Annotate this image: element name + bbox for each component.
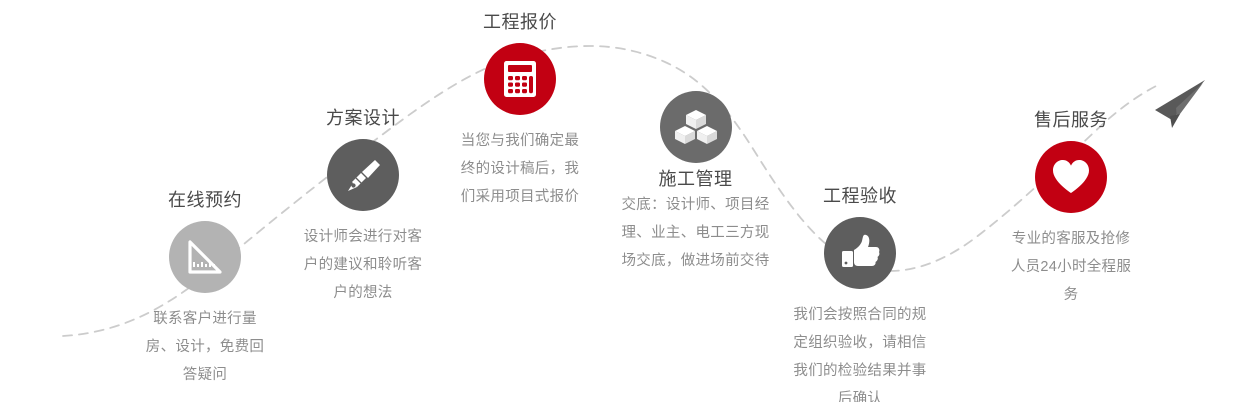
step-3-icon-circle[interactable]: [484, 43, 556, 115]
step-5-icon-circle[interactable]: [824, 217, 896, 289]
step-1-desc-line: 房、设计，免费回: [125, 333, 285, 361]
step-6-title: 售后服务: [991, 108, 1151, 132]
flow-diagram: 在线预约 联系客户进行量 房、设计，免费回 答疑问 方案设计: [0, 0, 1245, 402]
step-5-title: 工程验收: [765, 184, 955, 208]
step-6-desc-line: 人员24小时全程服: [991, 253, 1151, 281]
step-6-description: 专业的客服及抢修 人员24小时全程服 务: [991, 225, 1151, 309]
calculator-icon: [500, 58, 540, 100]
step-2-title: 方案设计: [283, 106, 443, 130]
step-5-desc-line: 我们会按照合同的规: [765, 301, 955, 329]
cubes-icon: [674, 106, 718, 148]
flow-step-1[interactable]: 在线预约 联系客户进行量 房、设计，免费回 答疑问: [125, 188, 285, 389]
step-4-desc-line: 理、业主、电工三方现: [598, 219, 793, 247]
step-4-desc-line: 场交底，做进场前交待: [598, 247, 793, 275]
step-2-desc-line: 户的想法: [283, 279, 443, 307]
step-6-icon-circle[interactable]: [1035, 141, 1107, 213]
triangle-ruler-icon: [183, 235, 227, 279]
step-4-title: 施工管理: [598, 167, 793, 191]
step-1-desc-line: 答疑问: [125, 361, 285, 389]
flow-step-3[interactable]: 工程报价 当您与我们确定最: [440, 10, 600, 211]
step-2-description: 设计师会进行对客 户的建议和聆听客 户的想法: [283, 223, 443, 307]
thumbs-up-icon: [838, 231, 882, 275]
heart-icon: [1050, 157, 1092, 197]
step-4-description: 交底：设计师、项目经 理、业主、电工三方现 场交底，做进场前交待: [598, 191, 793, 275]
step-5-desc-line: 定组织验收，请相信: [765, 329, 955, 357]
step-6-desc-line: 专业的客服及抢修: [991, 225, 1151, 253]
flow-step-4[interactable]: 施工管理 交底：设计师、项目经 理、业主、电工三方现 场交底，做进场前交待: [598, 91, 793, 275]
step-2-desc-line: 设计师会进行对客: [283, 223, 443, 251]
step-5-desc-line: 后确认: [765, 385, 955, 402]
step-1-description: 联系客户进行量 房、设计，免费回 答疑问: [125, 305, 285, 389]
step-6-desc-line: 务: [991, 281, 1151, 309]
step-4-desc-line: 交底：设计师、项目经: [598, 191, 793, 219]
flow-step-2[interactable]: 方案设计 设计师会进行对客 户的建议和聆听客 户的想法: [283, 106, 443, 307]
step-2-icon-circle[interactable]: [327, 139, 399, 211]
paper-plane-icon: [1155, 80, 1205, 128]
flow-step-5[interactable]: 工程验收 我们会按照合同的规 定组织验收，请相信 我们的检验结果并事 后确认: [765, 184, 955, 402]
step-4-icon-circle[interactable]: [660, 91, 732, 163]
step-5-description: 我们会按照合同的规 定组织验收，请相信 我们的检验结果并事 后确认: [765, 301, 955, 402]
step-2-desc-line: 户的建议和聆听客: [283, 251, 443, 279]
step-3-desc-line: 当您与我们确定最: [440, 127, 600, 155]
fountain-pen-icon: [342, 154, 384, 196]
step-1-title: 在线预约: [125, 188, 285, 212]
step-3-description: 当您与我们确定最 终的设计稿后，我 们采用项目式报价: [440, 127, 600, 211]
step-1-desc-line: 联系客户进行量: [125, 305, 285, 333]
flow-step-6[interactable]: 售后服务 专业的客服及抢修 人员24小时全程服 务: [991, 108, 1151, 309]
step-3-desc-line: 终的设计稿后，我: [440, 155, 600, 183]
step-1-icon-circle[interactable]: [169, 221, 241, 293]
step-5-desc-line: 我们的检验结果并事: [765, 357, 955, 385]
step-3-desc-line: 们采用项目式报价: [440, 183, 600, 211]
step-3-title: 工程报价: [440, 10, 600, 34]
